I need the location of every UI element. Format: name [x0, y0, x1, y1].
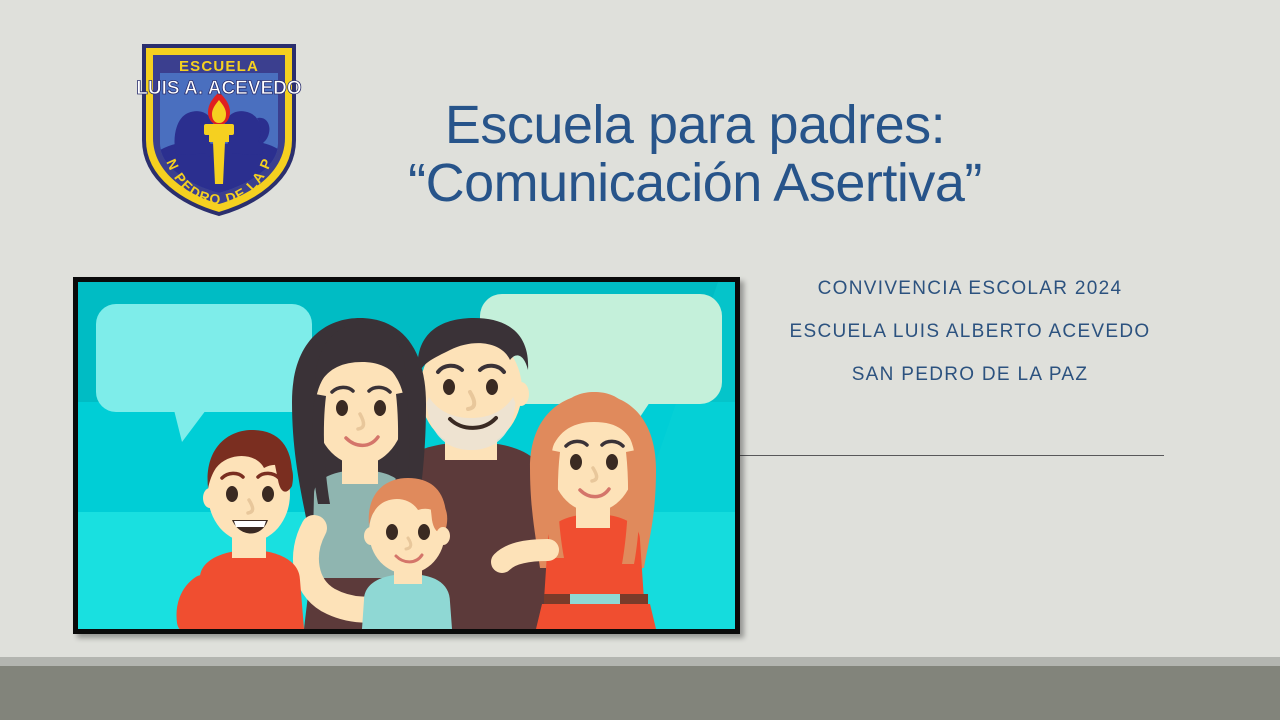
title-line-2: “Comunicación Asertiva”	[330, 154, 1060, 212]
crest-svg: ESCUELA LUIS A. ACEVEDO SAN PEDRO DE LA …	[124, 32, 314, 222]
subtitle-line-1: CONVIVENCIA ESCOLAR 2024	[760, 268, 1180, 311]
family-illustration	[78, 282, 735, 629]
crest-main-text: LUIS A. ACEVEDO	[136, 78, 301, 99]
page-title: Escuela para padres: “Comunicación Asert…	[330, 96, 1060, 213]
subtitle-block: CONVIVENCIA ESCOLAR 2024 ESCUELA LUIS AL…	[760, 268, 1180, 396]
horizontal-divider	[740, 455, 1164, 456]
presentation-slide: ESCUELA LUIS A. ACEVEDO SAN PEDRO DE LA …	[0, 0, 1280, 720]
title-line-1: Escuela para padres:	[330, 96, 1060, 154]
subtitle-line-2: ESCUELA LUIS ALBERTO ACEVEDO	[760, 311, 1180, 354]
footer-bar	[0, 666, 1280, 720]
footer-accent-bar	[0, 657, 1280, 666]
family-illustration-frame	[73, 277, 740, 634]
subtitle-line-3: SAN PEDRO DE LA PAZ	[760, 354, 1180, 397]
toddler-figure	[362, 478, 452, 629]
school-crest-logo: ESCUELA LUIS A. ACEVEDO SAN PEDRO DE LA …	[124, 32, 314, 222]
crest-top-text: ESCUELA	[179, 58, 259, 75]
